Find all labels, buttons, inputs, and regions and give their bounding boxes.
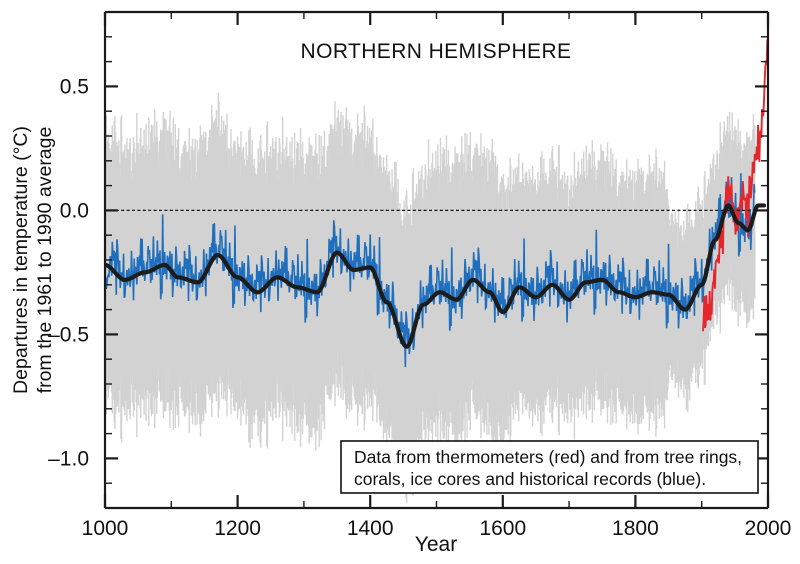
x-tick-label: 1200 [214,517,261,540]
plot-title: NORTHERN HEMISPHERE [301,40,572,63]
y-axis-title-line2: from the 1961 to 1990 average [34,127,56,394]
y-tick-label: –1.0 [48,447,89,470]
x-tick-label: 2000 [745,517,792,540]
x-axis-title: Year [415,533,457,556]
y-tick-label: 0.0 [60,199,89,222]
x-tick-label: 1800 [612,517,659,540]
legend-line-2: corals, ice cores and historical records… [354,469,706,489]
x-tick-label: 1600 [479,517,526,540]
chart-page: 0.50.0–0.5–1.0 100012001400160018002000 … [0,0,800,564]
x-tick-label: 1000 [82,517,129,540]
x-tick-label: 1400 [347,517,394,540]
y-tick-label: 0.5 [60,75,89,98]
temperature-reconstruction-chart: 0.50.0–0.5–1.0 100012001400160018002000 … [0,0,800,564]
y-axis-title-line1: Departures in temperature (°C) [10,126,32,394]
legend-line-1: Data from thermometers (red) and from tr… [354,447,742,467]
legend-box: Data from thermometers (red) and from tr… [341,441,758,493]
